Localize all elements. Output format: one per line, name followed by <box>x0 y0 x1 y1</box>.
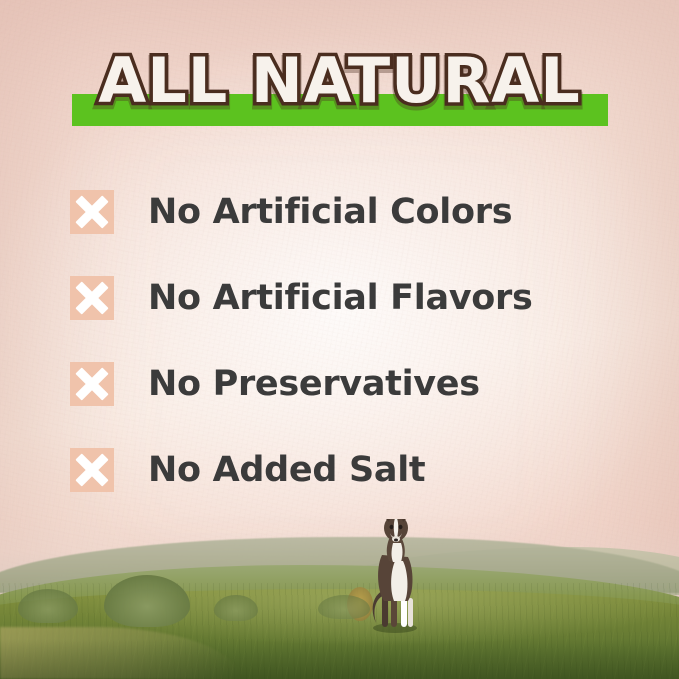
claim-label: No Artificial Colors <box>148 192 512 232</box>
claim-label: No Preservatives <box>148 364 480 404</box>
list-item: No Preservatives <box>70 342 610 426</box>
x-mark-icon <box>70 276 114 320</box>
dog-photo <box>362 519 428 635</box>
claim-label: No Added Salt <box>148 450 425 490</box>
x-mark-icon <box>70 362 114 406</box>
product-claims-poster: All Natural All Natural No Artificial Co… <box>0 0 679 679</box>
claims-list: No Artificial Colors No Artificial Flavo… <box>70 170 610 514</box>
list-item: No Artificial Flavors <box>70 256 610 340</box>
foreground-shadow <box>0 639 679 679</box>
bush-icon <box>18 589 78 623</box>
landscape-photo <box>0 519 679 679</box>
x-mark-icon <box>70 190 114 234</box>
page-title: All Natural <box>0 50 679 112</box>
list-item: No Added Salt <box>70 428 610 512</box>
claim-label: No Artificial Flavors <box>148 278 533 318</box>
bush-icon <box>214 595 258 621</box>
x-mark-icon <box>70 448 114 492</box>
list-item: No Artificial Colors <box>70 170 610 254</box>
